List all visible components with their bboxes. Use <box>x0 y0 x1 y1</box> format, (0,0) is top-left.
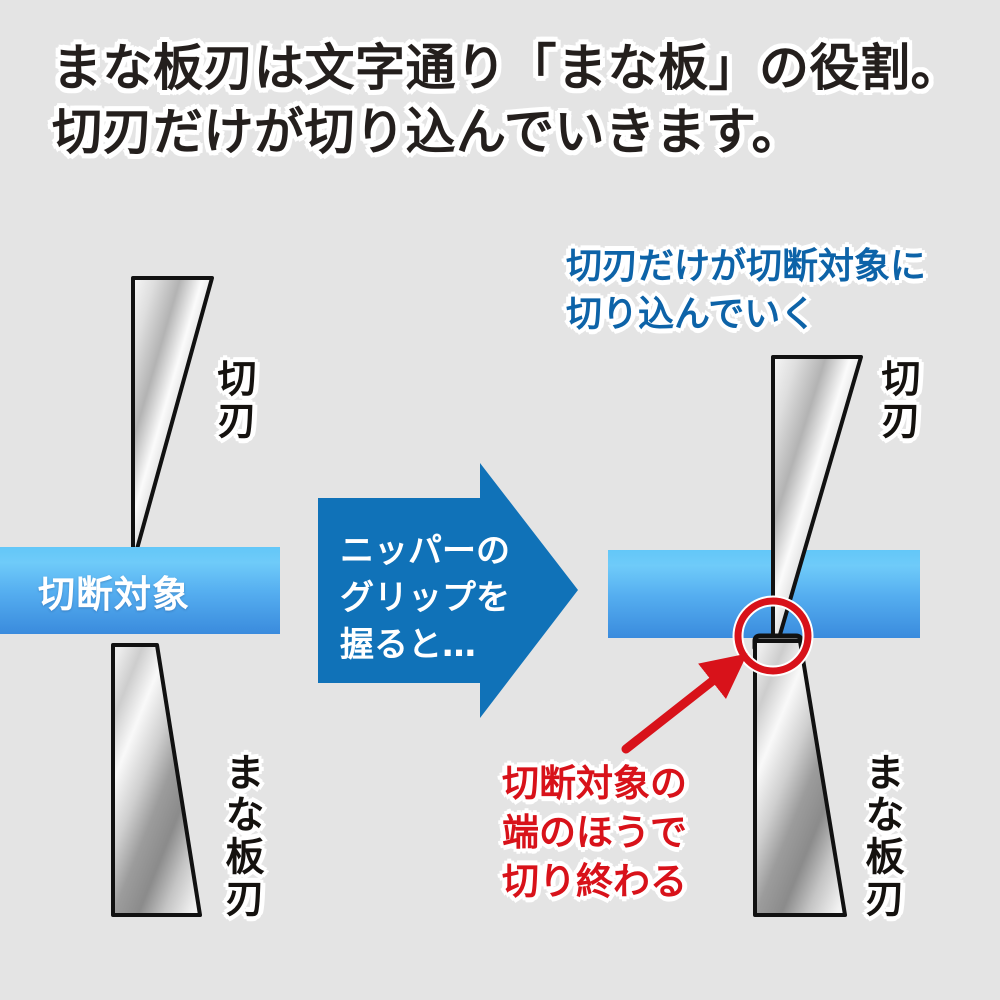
diagram-graphics <box>0 0 1000 1000</box>
right-upper-blade-label: 切刃 <box>878 358 917 442</box>
right-headline-line-2: 切り込んでいく <box>566 291 926 339</box>
callout-line-3: 切り終わる <box>502 858 687 907</box>
left-upper-cutting-blade <box>133 278 212 549</box>
left-upper-blade-label: 切刃 <box>214 358 253 442</box>
left-lower-blade-label: まな板刃 <box>222 752 261 920</box>
right-lower-anvil-blade <box>755 641 845 915</box>
arrow-text-line-1: ニッパーの <box>340 528 510 575</box>
arrow-text-line-3: 握ると… <box>340 622 510 669</box>
right-headline-line-1: 切刃だけが切断対象に <box>566 243 926 291</box>
callout-line-1: 切断対象の <box>502 760 687 809</box>
right-lower-blade-label: まな板刃 <box>862 752 901 920</box>
callout-line-2: 端のほうで <box>502 809 687 858</box>
right-headline: 切刃だけが切断対象に 切り込んでいく <box>566 243 926 339</box>
callout-arrow <box>626 668 729 749</box>
right-workpiece-bar <box>608 550 920 638</box>
infographic-canvas: まな板刃は文字通り「まな板」の役割。 切刃だけが切り込んでいきます。 <box>0 0 1000 1000</box>
left-workpiece-label: 切断対象 <box>38 564 190 618</box>
cut-point-callout: 切断対象の 端のほうで 切り終わる <box>502 760 687 906</box>
left-lower-anvil-blade <box>113 645 200 915</box>
arrow-text-line-2: グリップを <box>340 575 510 622</box>
process-arrow-text: ニッパーの グリップを 握ると… <box>340 528 510 669</box>
